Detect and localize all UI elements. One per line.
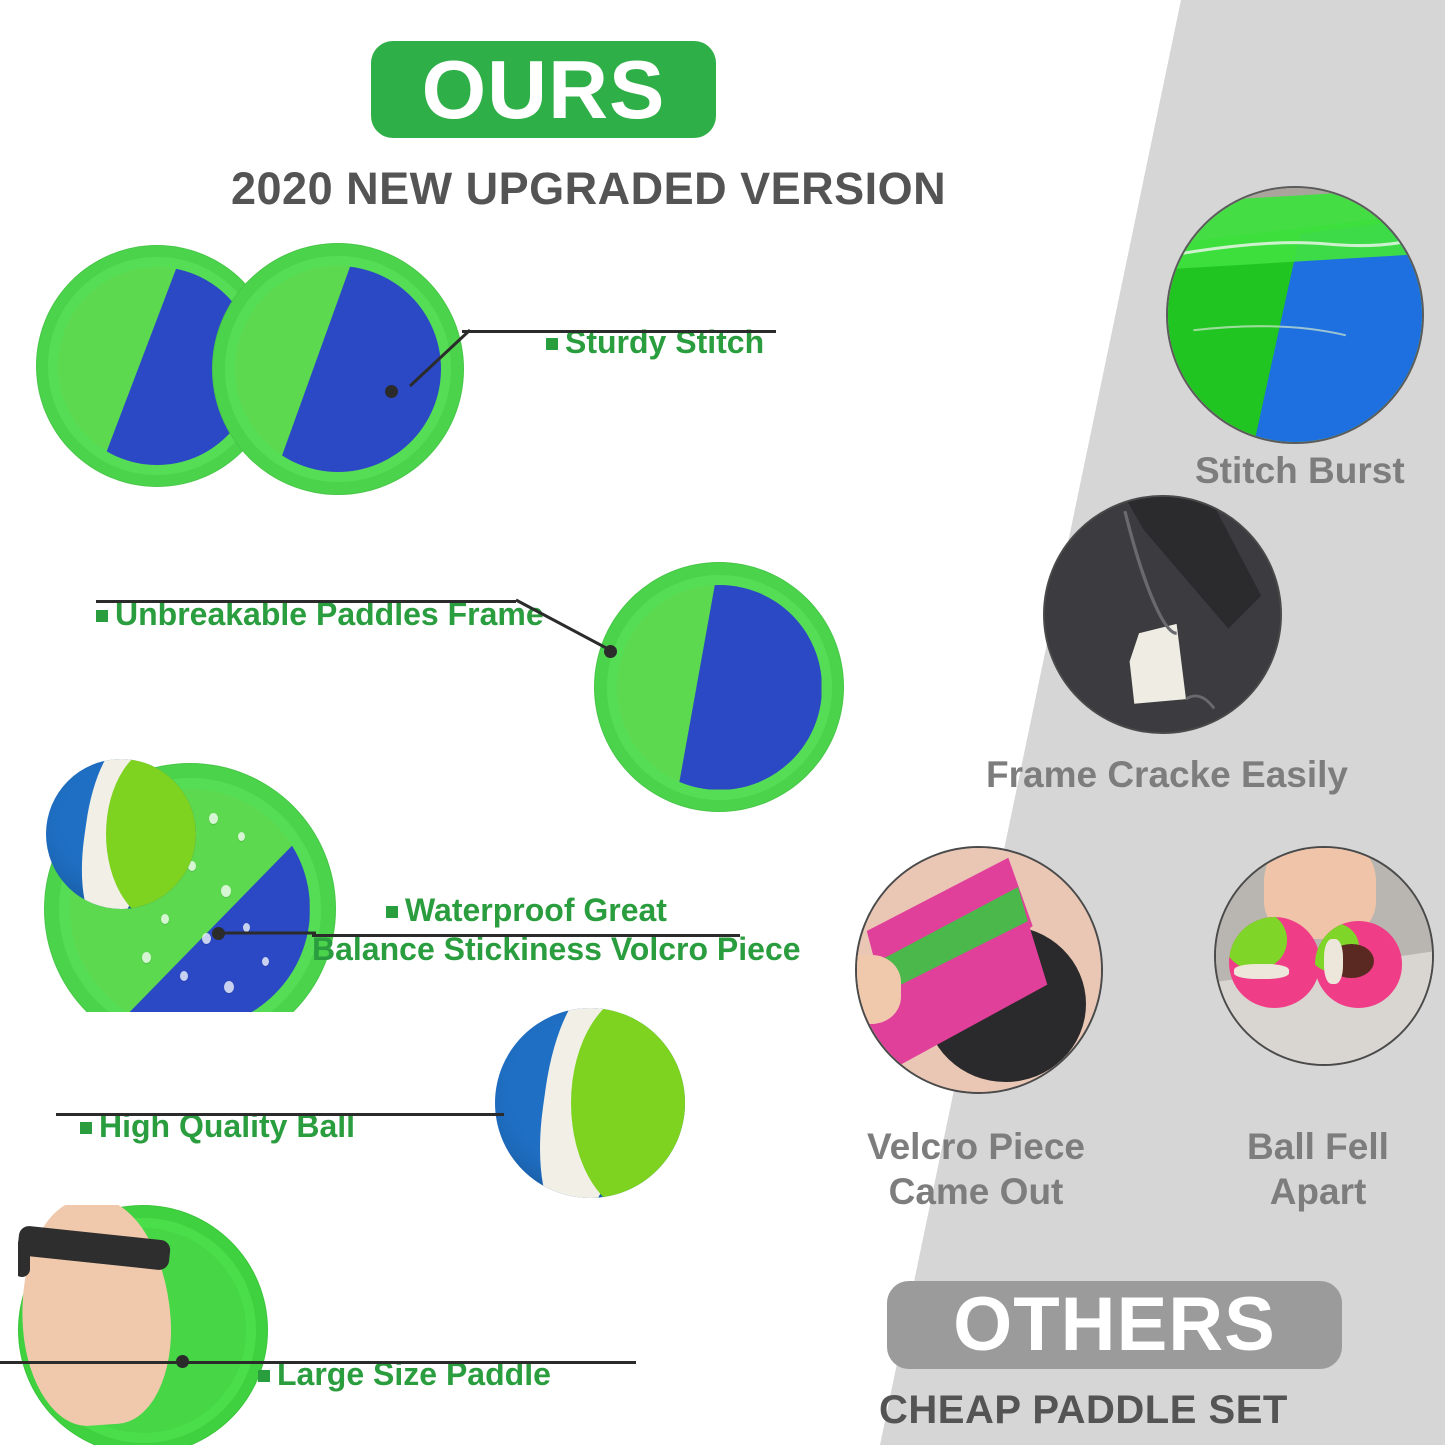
hand xyxy=(855,955,901,1023)
callout-waterproof-velcro: Waterproof Great Balance Stickiness Volc… xyxy=(312,852,801,969)
water-droplet xyxy=(209,813,218,824)
ball-green-section xyxy=(571,1008,685,1198)
photo-ball-fell-apart xyxy=(1214,846,1434,1066)
callout-rule-unbreakable-frame xyxy=(96,600,516,603)
caption-frame-cracke: Frame Cracke Easily xyxy=(986,752,1348,797)
bullet-square-icon xyxy=(386,906,398,918)
others-badge: OTHERS xyxy=(887,1281,1342,1369)
crack-line xyxy=(1045,497,1280,732)
leader-line-sturdy-stitch xyxy=(392,328,472,392)
callout-rule-large-size-paddle xyxy=(0,1361,636,1364)
velcro-blue-section xyxy=(617,585,822,790)
water-droplet xyxy=(238,832,245,841)
water-droplet xyxy=(221,885,231,897)
strap-buckle xyxy=(18,1241,30,1277)
ours-badge: OURS xyxy=(371,41,716,138)
callout-rule-waterproof xyxy=(312,934,740,937)
photo-stitch-burst xyxy=(1166,186,1424,444)
ball-on-paddle xyxy=(46,759,196,909)
callout-sturdy-stitch: Sturdy Stitch xyxy=(546,284,764,362)
callout-rule-sturdy-stitch xyxy=(462,330,776,333)
leader-dot-unbreakable-frame xyxy=(604,645,617,658)
bullet-square-icon xyxy=(96,610,108,622)
ball-white-band xyxy=(1234,964,1288,979)
callout-rule-high-quality-ball xyxy=(56,1113,504,1116)
bullet-square-icon xyxy=(258,1370,270,1382)
ours-subtitle: 2020 NEW UPGRADED VERSION xyxy=(231,163,946,215)
callout-label: Waterproof Great Balance Stickiness Volc… xyxy=(312,892,801,967)
leader-dot-large-size-paddle xyxy=(176,1355,189,1368)
bullet-square-icon xyxy=(80,1122,92,1134)
ball-white-band xyxy=(1324,939,1343,984)
ball-broken-left xyxy=(1229,917,1320,1008)
callout-high-quality-ball: High Quality Ball xyxy=(80,1068,355,1146)
waterproof-paddle-photo xyxy=(36,757,336,1012)
water-droplet xyxy=(262,957,269,966)
caption-ball-fell-apart: Ball Fell Apart xyxy=(1218,1124,1418,1214)
caption-velcro-came-out: Velcro Piece Came Out xyxy=(846,1124,1106,1214)
comparison-infographic: OURS 2020 NEW UPGRADED VERSION Sturdy St… xyxy=(0,0,1445,1445)
callout-unbreakable-frame: Unbreakable Paddles Frame xyxy=(96,556,544,634)
water-droplet xyxy=(161,914,169,924)
ball-broken-right xyxy=(1315,921,1401,1007)
others-subtitle: CHEAP PADDLE SET xyxy=(879,1388,1288,1433)
photo-velcro-came-out xyxy=(855,846,1103,1094)
caption-stitch-burst: Stitch Burst xyxy=(1195,448,1405,493)
ball-green-section xyxy=(106,759,196,909)
paddle-single-middle xyxy=(594,562,844,812)
leader-line-waterproof xyxy=(218,926,318,940)
water-droplet xyxy=(224,981,234,993)
ball-standalone xyxy=(495,1008,685,1198)
callout-large-size-paddle: Large Size Paddle xyxy=(258,1316,551,1394)
water-droplet xyxy=(142,952,151,963)
ball-green-section xyxy=(1229,917,1287,970)
leader-dot-sturdy-stitch xyxy=(385,385,398,398)
photo-frame-cracked xyxy=(1043,495,1282,734)
burst-stitch-line xyxy=(1168,188,1422,442)
water-droplet xyxy=(202,933,211,944)
bullet-square-icon xyxy=(546,338,558,350)
paddle-face xyxy=(617,585,822,790)
